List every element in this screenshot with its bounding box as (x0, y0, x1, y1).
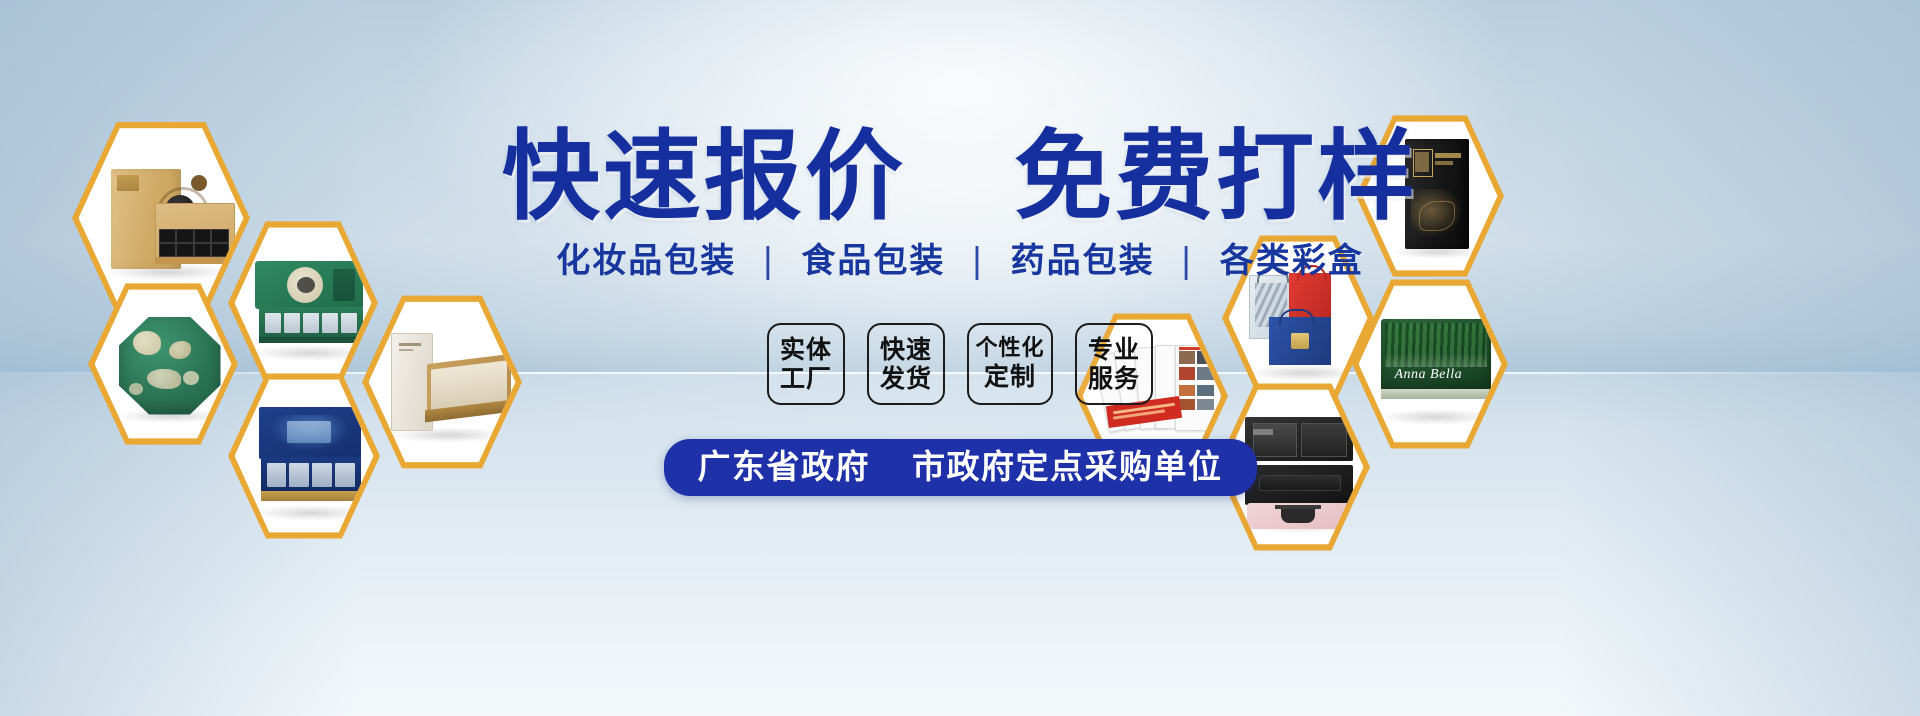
page-title: 快速报价 免费打样 (502, 128, 1418, 226)
subtitle-separator: | (750, 244, 787, 278)
subtitle-separator: | (959, 244, 996, 278)
gov-tag-part-1: 广东省政府 (698, 447, 871, 486)
badge-service-line2: 服务 (1088, 364, 1140, 394)
subtitle-separator: | (1168, 244, 1205, 278)
subtitle-item-0: 化妆品包装 (556, 241, 736, 281)
badge-service-line1: 专业 (1088, 335, 1140, 365)
product-image-blue-gift-box (235, 377, 374, 536)
annabella-brand-text: Anna Bella (1395, 367, 1463, 383)
badge-shipping-line1: 快速 (880, 335, 932, 365)
badge-custom-line1: 个性化 (975, 336, 1044, 362)
subtitle: 化妆品包装 | 食品包装 | 药品包装 | 各类彩盒 (556, 244, 1363, 278)
right-vignette (1560, 0, 1920, 716)
badge-shipping[interactable]: 快速 发货 (867, 323, 945, 405)
promo-banner: Anna Bella (0, 0, 1920, 716)
hex-inner: Anna Bella (1359, 283, 1502, 446)
badge-custom[interactable]: 个性化 定制 (967, 323, 1053, 405)
badge-custom-line2: 定制 (984, 362, 1036, 392)
hex-inner (1363, 119, 1498, 274)
badge-factory[interactable]: 实体 工厂 (767, 323, 845, 405)
product-image-handbag-set (1229, 239, 1368, 398)
badge-shipping-line2: 发货 (880, 364, 932, 394)
headline-part-2: 免费打样 (1014, 120, 1418, 234)
gov-tag-part-2: 市政府定点采购单位 (912, 447, 1223, 486)
product-hex-black-wine-box[interactable] (1356, 112, 1504, 280)
badge-factory-line2: 工厂 (780, 364, 832, 394)
hex-inner (95, 287, 232, 442)
feature-badges: 实体 工厂 快速 发货 个性化 定制 专业 服务 (767, 323, 1153, 405)
badge-service[interactable]: 专业 服务 (1075, 323, 1153, 405)
product-image-black-wine-box (1363, 119, 1498, 274)
hex-inner (1229, 239, 1368, 398)
hex-inner (235, 225, 372, 382)
product-image-green-tea-box (235, 225, 372, 382)
product-image-kraft-book-box (369, 299, 516, 466)
badge-factory-line1: 实体 (780, 335, 832, 365)
subtitle-item-1: 食品包装 (801, 241, 945, 281)
subtitle-item-2: 药品包装 (1011, 241, 1155, 281)
product-image-round-floral-box (95, 287, 232, 442)
headline-part-1: 快速报价 (502, 120, 906, 234)
hex-inner (369, 299, 516, 466)
hex-inner (235, 377, 374, 536)
product-image-annabella-box: Anna Bella (1359, 283, 1502, 446)
status-badge[interactable]: 广东省政府 市政府定点采购单位 (664, 439, 1257, 496)
